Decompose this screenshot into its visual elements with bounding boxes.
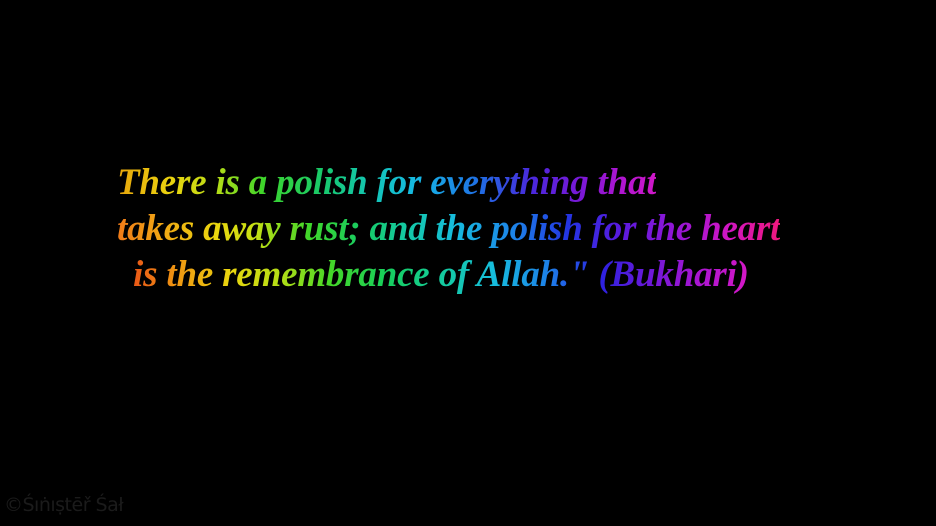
quote-line-1: There is a polish for everything that [117,160,656,206]
quote-image-canvas: There is a polish for everything that ta… [0,0,936,526]
watermark-text: ©Śıṅıṣtēř Śał [4,494,123,516]
quote-line-3: is the remembrance of Allah." (Bukhari) [124,252,749,298]
quote-text-block: There is a polish for everything that ta… [0,160,936,298]
quote-line-2: takes away rust; and the polish for the … [117,206,780,252]
